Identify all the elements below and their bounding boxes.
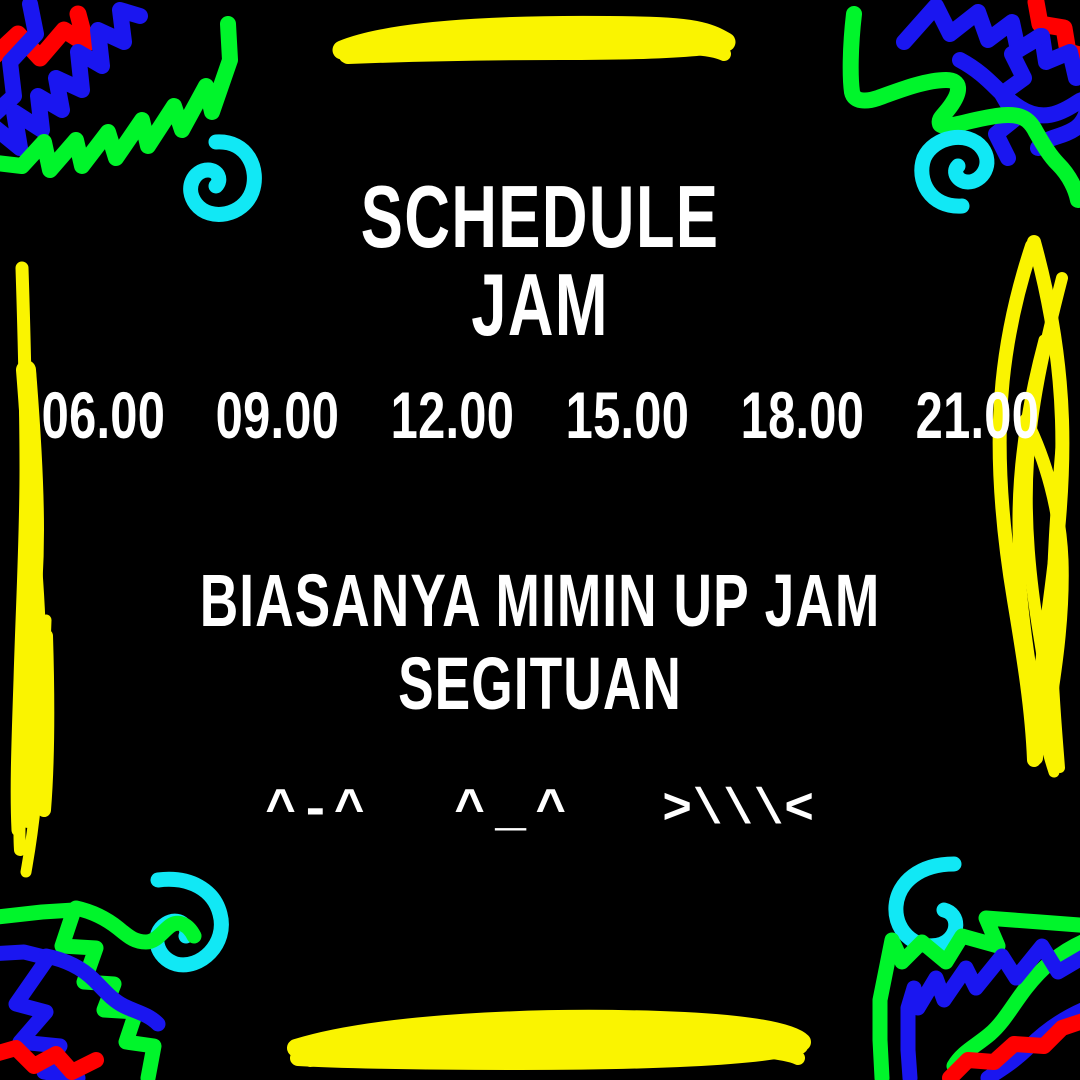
schedule-poster: SCHEDULE JAM 06.00 09.00 12.00 15.00 18.… bbox=[0, 0, 1080, 1080]
title-line-2: JAM bbox=[151, 262, 929, 348]
caption-text: BIASANYA MIMIN UP JAM SEGITUAN bbox=[151, 560, 929, 726]
emoticon-row: ^-^ ^_^ >\\\< bbox=[0, 786, 1080, 838]
schedule-times-row: 06.00 09.00 12.00 15.00 18.00 21.00 bbox=[0, 382, 1080, 448]
text-layer: SCHEDULE JAM 06.00 09.00 12.00 15.00 18.… bbox=[0, 0, 1080, 1080]
emoticon-shy-face: >\\\< bbox=[662, 786, 815, 836]
schedule-time: 09.00 bbox=[213, 382, 342, 448]
title-line-1: SCHEDULE bbox=[361, 167, 720, 266]
emoticon-happy-face: ^-^ bbox=[265, 786, 368, 838]
caption-line-1: BIASANYA MIMIN UP JAM bbox=[200, 559, 881, 642]
caption-line-2: SEGITUAN bbox=[151, 643, 929, 726]
schedule-time: 21.00 bbox=[912, 382, 1041, 448]
schedule-time: 06.00 bbox=[38, 382, 167, 448]
emoticon-smiling-face: ^_^ bbox=[454, 786, 576, 838]
schedule-time: 12.00 bbox=[388, 382, 517, 448]
page-title: SCHEDULE JAM bbox=[151, 174, 929, 348]
schedule-time: 18.00 bbox=[738, 382, 867, 448]
schedule-time: 15.00 bbox=[563, 382, 692, 448]
